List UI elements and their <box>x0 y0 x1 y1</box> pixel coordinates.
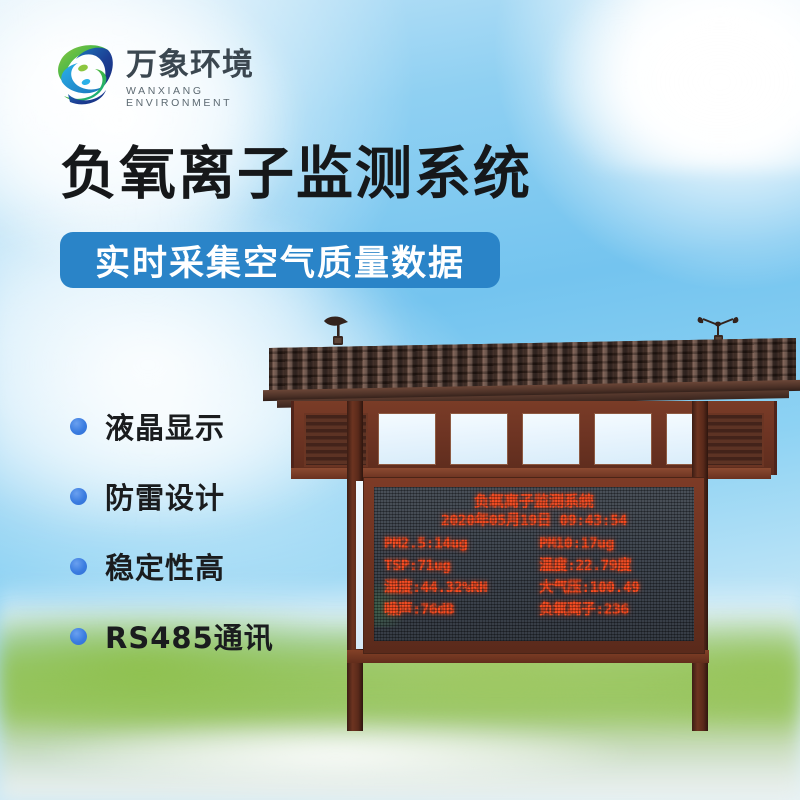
brand-name-cn: 万象环境 <box>126 48 302 82</box>
led-reading-row: 湿度:44.32%RH 大气压:100.49 <box>384 577 684 599</box>
window-pane <box>522 413 580 465</box>
subtitle-text: 实时采集空气质量数据 <box>95 235 465 286</box>
brand-logo-text: 万象环境 WANXIANG ENVIRONMENT <box>126 48 302 109</box>
led-reading-noise: 噪声:76dB <box>384 599 529 621</box>
led-display-content: 负氧离子监测系统 2020年05月19日 09:43:54 PM2.5:14ug… <box>374 487 694 641</box>
led-display-screen: 负氧离子监测系统 2020年05月19日 09:43:54 PM2.5:14ug… <box>374 487 694 641</box>
bullet-dot-icon <box>70 488 87 505</box>
led-reading-negative-ion: 负氧离子:236 <box>529 599 684 621</box>
subtitle-badge: 实时采集空气质量数据 <box>60 232 500 288</box>
cloud-top-right <box>540 0 800 170</box>
feature-label: 稳定性高 <box>105 545 225 587</box>
led-reading-pm10: PM10:17ug <box>529 533 684 555</box>
led-readings: PM2.5:14ug PM10:17ug TSP:71ug 温度:22.79度 … <box>384 533 684 621</box>
led-title: 负氧离子监测系统 <box>384 492 684 511</box>
poster-canvas: 万象环境 WANXIANG ENVIRONMENT 负氧离子监测系统 实时采集空… <box>0 0 800 800</box>
led-board-frame: 负氧离子监测系统 2020年05月19日 09:43:54 PM2.5:14ug… <box>363 477 705 654</box>
bullet-dot-icon <box>70 558 87 575</box>
led-reading-humidity: 湿度:44.32%RH <box>384 577 529 599</box>
louver-vent-right <box>700 413 764 467</box>
window-pane <box>378 413 436 465</box>
feature-label: 液晶显示 <box>105 405 225 447</box>
window-pane <box>450 413 508 465</box>
led-reading-row: TSP:71ug 温度:22.79度 <box>384 555 684 577</box>
monitoring-station: 负氧离子监测系统 2020年05月19日 09:43:54 PM2.5:14ug… <box>255 305 800 745</box>
brand-logo: 万象环境 WANXIANG ENVIRONMENT <box>52 38 302 112</box>
bullet-dot-icon <box>70 418 87 435</box>
led-reading-pm25: PM2.5:14ug <box>384 533 529 555</box>
led-reading-row: PM2.5:14ug PM10:17ug <box>384 533 684 555</box>
led-reading-temperature: 温度:22.79度 <box>529 555 684 577</box>
led-reading-pressure: 大气压:100.49 <box>529 577 684 599</box>
window-pane <box>594 413 652 465</box>
globe-swirl-logo-icon <box>52 38 118 108</box>
feature-label: 防雷设计 <box>105 475 225 517</box>
led-reading-row: 噪声:76dB 负氧离子:236 <box>384 599 684 621</box>
wind-direction-vane-icon <box>318 311 358 351</box>
feature-label: RS485通讯 <box>105 615 274 657</box>
brand-name-en: WANXIANG ENVIRONMENT <box>126 85 302 109</box>
led-reading-tsp: TSP:71ug <box>384 555 529 577</box>
bullet-dot-icon <box>70 628 87 645</box>
page-title: 负氧离子监测系统 <box>60 143 532 205</box>
led-datetime: 2020年05月19日 09:43:54 <box>384 511 684 531</box>
